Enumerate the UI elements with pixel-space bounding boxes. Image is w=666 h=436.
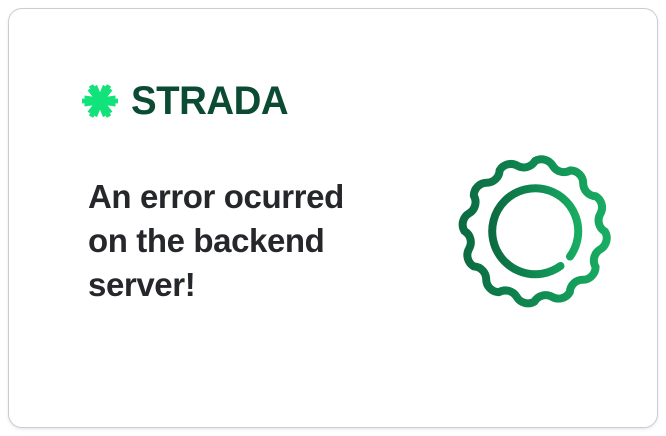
error-page: STRADA An error ocurred on the backend s… bbox=[0, 0, 666, 436]
strada-asterisk-mark-icon bbox=[79, 80, 121, 122]
gear-cog-icon bbox=[457, 153, 613, 309]
brand-lockup: STRADA bbox=[79, 75, 295, 127]
error-headline: An error ocurred on the backend server! bbox=[88, 175, 368, 307]
gear-illustration bbox=[457, 153, 613, 309]
brand-wordmark: STRADA bbox=[131, 81, 288, 121]
error-card: STRADA An error ocurred on the backend s… bbox=[8, 8, 658, 428]
